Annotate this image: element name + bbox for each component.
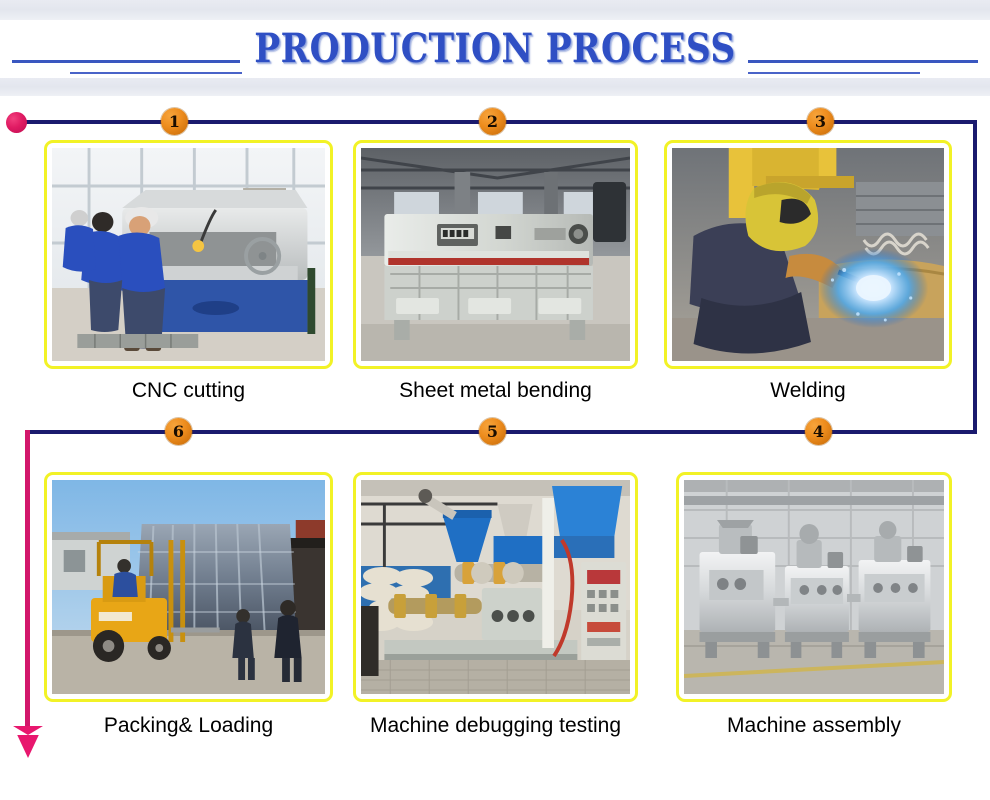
step-caption-3: Welding: [664, 379, 952, 403]
step-badge-5: 5: [479, 418, 506, 445]
flow-line-left-down: [25, 430, 30, 730]
step-badge-1: 1: [161, 108, 188, 135]
step-card-2[interactable]: Sheet metal bending: [353, 140, 638, 369]
photo-welding: [672, 148, 944, 361]
flow-start-dot: [6, 112, 27, 133]
step-photo-frame-6: [44, 472, 333, 702]
step-card-3[interactable]: Welding: [664, 140, 952, 369]
step-caption-2: Sheet metal bending: [353, 379, 638, 403]
step-photo-frame-5: [353, 472, 638, 702]
step-badge-2: 2: [479, 108, 506, 135]
header-band-bottom: [0, 78, 990, 96]
step-badge-3: 3: [807, 108, 834, 135]
step-card-1[interactable]: CNC cutting: [44, 140, 333, 369]
step-card-4[interactable]: Machine assembly: [676, 472, 952, 702]
step-photo-frame-4: [676, 472, 952, 702]
step-caption-4: Machine assembly: [676, 714, 952, 738]
step-caption-1: CNC cutting: [44, 379, 333, 403]
step-caption-6: Packing& Loading: [44, 714, 333, 738]
step-badge-4: 4: [805, 418, 832, 445]
photo-sheet-metal-bending: [361, 148, 630, 361]
flow-line-right-down: [973, 120, 977, 434]
flow-arrow-notch: [13, 726, 43, 735]
step-photo-frame-1: [44, 140, 333, 369]
photo-packing-loading: [52, 480, 325, 694]
step-photo-frame-2: [353, 140, 638, 369]
production-process-infographic: PRODUCTION PROCESS 1 2 3 4 5 6: [0, 0, 990, 800]
page-title: PRODUCTION PROCESS: [69, 20, 920, 78]
photo-machine-assembly: [684, 480, 944, 694]
step-badge-6: 6: [165, 418, 192, 445]
photo-cnc-cutting: [52, 148, 325, 361]
step-caption-5: Machine debugging testing: [353, 714, 638, 738]
header-band-top: [0, 0, 990, 20]
step-photo-frame-3: [664, 140, 952, 369]
title-area: PRODUCTION PROCESS: [0, 20, 990, 78]
step-card-6[interactable]: Packing& Loading: [44, 472, 333, 702]
photo-machine-debugging-testing: [361, 480, 630, 694]
step-card-5[interactable]: Machine debugging testing: [353, 472, 638, 702]
